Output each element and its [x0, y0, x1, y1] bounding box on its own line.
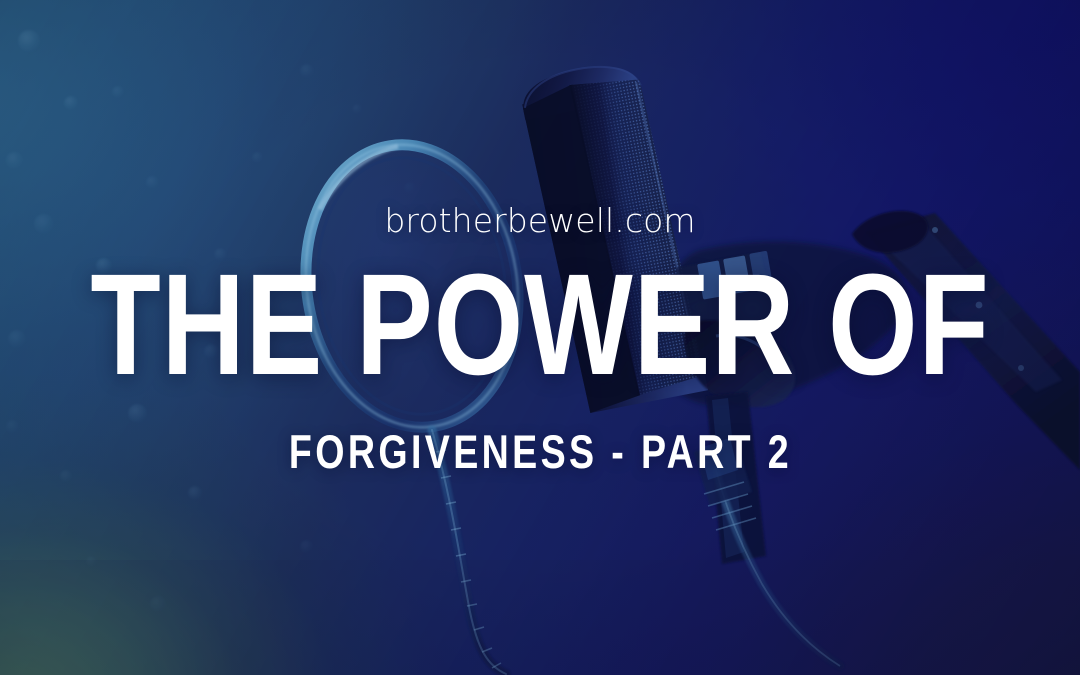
site-url-label: brotherbewell.com — [384, 204, 695, 237]
banner-text-block: brotherbewell.com THE POWER OF FORGIVENE… — [0, 0, 1080, 675]
page-title: THE POWER OF — [90, 256, 989, 394]
page-subtitle: FORGIVENESS - PART 2 — [288, 428, 791, 475]
podcast-banner: brotherbewell.com THE POWER OF FORGIVENE… — [0, 0, 1080, 675]
